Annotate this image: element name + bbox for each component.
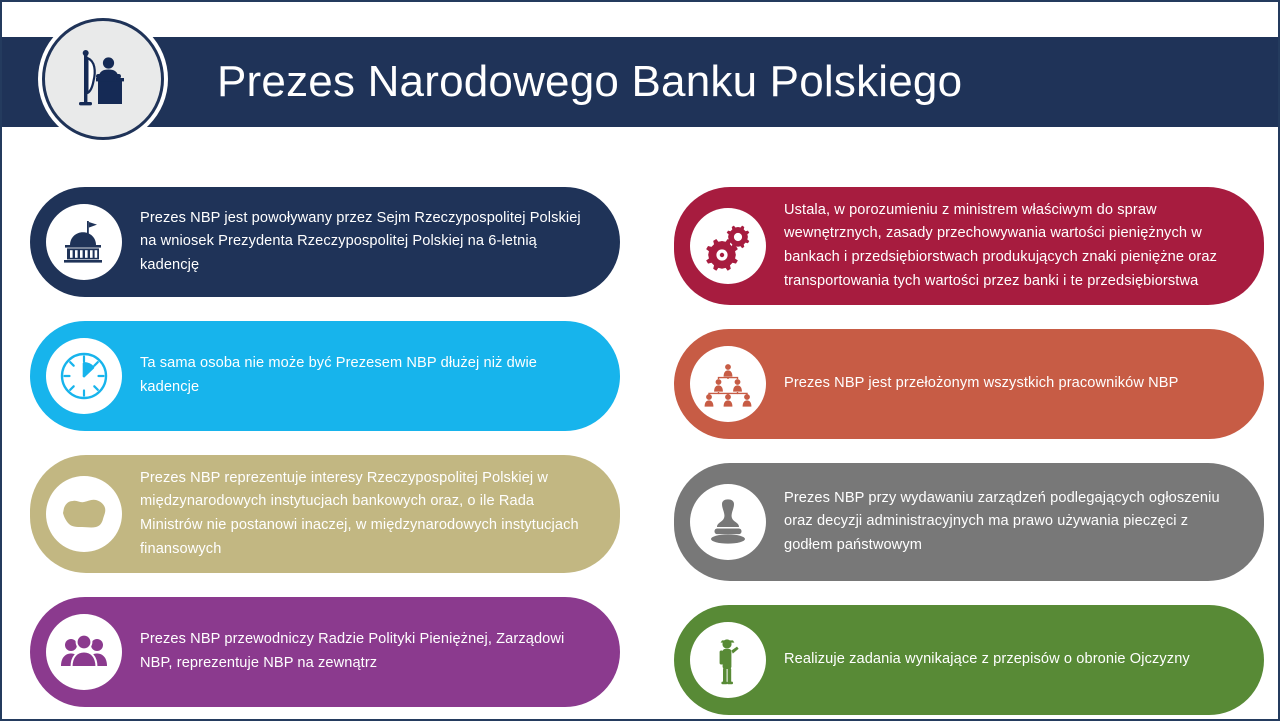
card-text: Prezes NBP jest powoływany przez Sejm Rz…	[140, 207, 594, 278]
card-term-limit[interactable]: Ta sama osoba nie może być Prezesem NBP …	[30, 321, 620, 431]
org-hierarchy-icon	[690, 346, 766, 422]
card-cash-storage-rules[interactable]: Ustala, w porozumieniu z ministrem właśc…	[674, 187, 1264, 305]
card-text: Ta sama osoba nie może być Prezesem NBP …	[140, 352, 594, 399]
card-text: Prezes NBP reprezentuje interesy Rzeczyp…	[140, 467, 594, 562]
poland-map-icon	[46, 476, 122, 552]
header-band: Prezes Narodowego Banku Polskiego	[2, 37, 1280, 127]
rubber-stamp-icon	[690, 484, 766, 560]
card-text: Ustala, w porozumieniu z ministrem właśc…	[784, 199, 1238, 294]
left-card-column: Prezes NBP jest powoływany przez Sejm Rz…	[30, 187, 620, 721]
card-text: Prezes NBP jest przełożonym wszystkich p…	[784, 372, 1178, 396]
government-building-flag-icon	[46, 204, 122, 280]
podium-speaker-icon	[42, 18, 164, 140]
clock-icon	[46, 338, 122, 414]
card-international-representation[interactable]: Prezes NBP reprezentuje interesy Rzeczyp…	[30, 455, 620, 573]
page-title: Prezes Narodowego Banku Polskiego	[217, 37, 962, 127]
card-text: Realizuje zadania wynikające z przepisów…	[784, 648, 1190, 672]
card-chairs-councils[interactable]: Prezes NBP przewodniczy Radzie Polityki …	[30, 597, 620, 707]
card-state-seal[interactable]: Prezes NBP przy wydawaniu zarządzeń podl…	[674, 463, 1264, 581]
gears-icon	[690, 208, 766, 284]
right-card-column: Ustala, w porozumieniu z ministrem właśc…	[674, 187, 1264, 721]
card-homeland-defence[interactable]: Realizuje zadania wynikające z przepisów…	[674, 605, 1264, 715]
saluting-soldier-icon	[690, 622, 766, 698]
infographic-slide: Prezes Narodowego Banku Polskiego	[0, 0, 1280, 721]
card-text: Prezes NBP przewodniczy Radzie Polityki …	[140, 628, 594, 675]
card-supervisor-of-staff[interactable]: Prezes NBP jest przełożonym wszystkich p…	[674, 329, 1264, 439]
card-appointment[interactable]: Prezes NBP jest powoływany przez Sejm Rz…	[30, 187, 620, 297]
card-text: Prezes NBP przy wydawaniu zarządzeń podl…	[784, 487, 1238, 558]
group-people-icon	[46, 614, 122, 690]
